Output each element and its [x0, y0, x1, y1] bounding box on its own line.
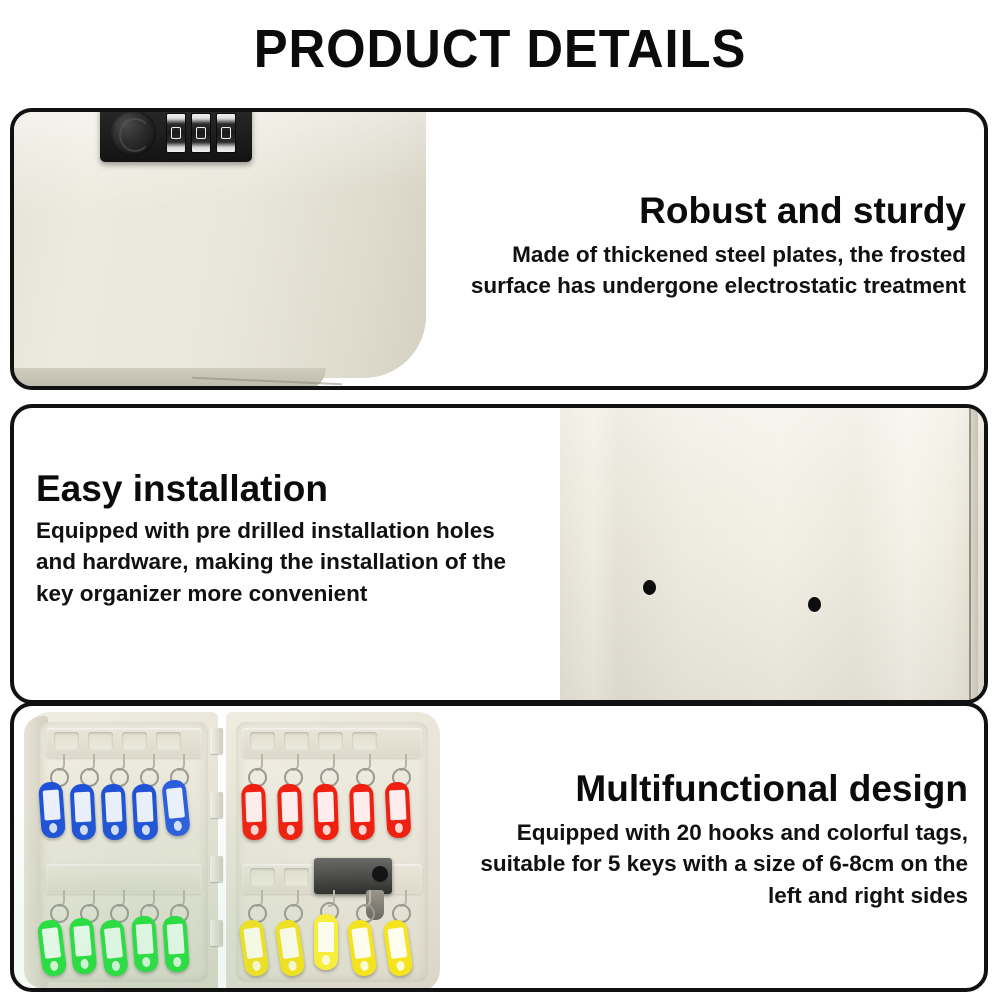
combination-lock-plate [100, 112, 252, 162]
body-line-3: left and right sides [480, 880, 968, 911]
slot [156, 732, 181, 750]
headline-multifunctional-design: Multifunctional design [480, 768, 968, 809]
key-tag-green [69, 917, 98, 975]
body-line-2: surface has undergone electrostatic trea… [471, 270, 966, 301]
slot [250, 868, 275, 886]
slot [284, 868, 309, 886]
key-tag-blue [101, 783, 128, 840]
body-line-1: Equipped with 20 hooks and colorful tags… [480, 817, 968, 848]
key-tag-green [162, 915, 190, 973]
panel-robust-and-sturdy: Robust and sturdy Made of thickened stee… [10, 108, 988, 390]
panel-easy-installation: Easy installation Equipped with pre dril… [10, 404, 988, 704]
combination-dials [166, 113, 236, 153]
key-box-back-plate [560, 408, 984, 700]
body-line-1: Equipped with pre drilled installation h… [36, 515, 506, 546]
dial-2 [191, 113, 211, 153]
key-tag-red [313, 784, 339, 841]
text-block-robust-and-sturdy: Robust and sturdy Made of thickened stee… [471, 190, 966, 302]
slot [352, 732, 377, 750]
key-tag-yellow [314, 914, 338, 970]
slot [122, 732, 147, 750]
headline-robust-and-sturdy: Robust and sturdy [471, 190, 966, 231]
key-tag-blue [38, 781, 66, 839]
body-line-2: suitable for 5 keys with a size of 6-8cm… [480, 848, 968, 879]
slot [250, 732, 275, 750]
dial-3 [216, 113, 236, 153]
mounting-hole-right [808, 597, 821, 612]
slot [284, 732, 309, 750]
page-title: PRODUCT DETAILS [30, 18, 970, 80]
key-tag-blue [70, 783, 97, 840]
hinge-1 [210, 728, 223, 754]
body-line-2: and hardware, making the installation of… [36, 546, 506, 577]
photo-key-box-open-with-colored-tags [14, 706, 444, 988]
slot [54, 732, 79, 750]
photo-key-box-front-with-combination-lock [14, 112, 450, 386]
dial-1 [166, 113, 186, 153]
text-block-multifunctional-design: Multifunctional design Equipped with 20 … [480, 768, 968, 911]
open-key-box [14, 706, 444, 988]
mounting-hole-left [643, 580, 656, 595]
panel-multifunctional-design: Multifunctional design Equipped with 20 … [10, 702, 988, 992]
back-plate-sheen [560, 408, 984, 700]
hinge-3 [210, 856, 223, 882]
hinge-column [210, 724, 223, 980]
hinge-4 [210, 920, 223, 946]
back-plate-right-edge [971, 408, 978, 700]
key-tag-red [385, 781, 412, 838]
lock-knob-icon [110, 112, 156, 156]
hinge-2 [210, 792, 223, 818]
slot [318, 732, 343, 750]
key-tag-green [131, 915, 159, 973]
slot [88, 732, 113, 750]
text-block-easy-installation: Easy installation Equipped with pre dril… [36, 468, 506, 609]
key-tag-red [241, 784, 267, 841]
body-line-3: key organizer more convenient [36, 578, 506, 609]
key-tag-red [277, 784, 303, 841]
key-box-bottom-edge [14, 368, 326, 386]
headline-easy-installation: Easy installation [36, 468, 506, 509]
key-tag-blue [132, 783, 159, 840]
body-line-1: Made of thickened steel plates, the fros… [471, 239, 966, 270]
internal-lock-mechanism [314, 858, 392, 894]
key-tag-red [349, 784, 375, 841]
photo-key-box-back-panel-mounting-holes [560, 408, 984, 700]
